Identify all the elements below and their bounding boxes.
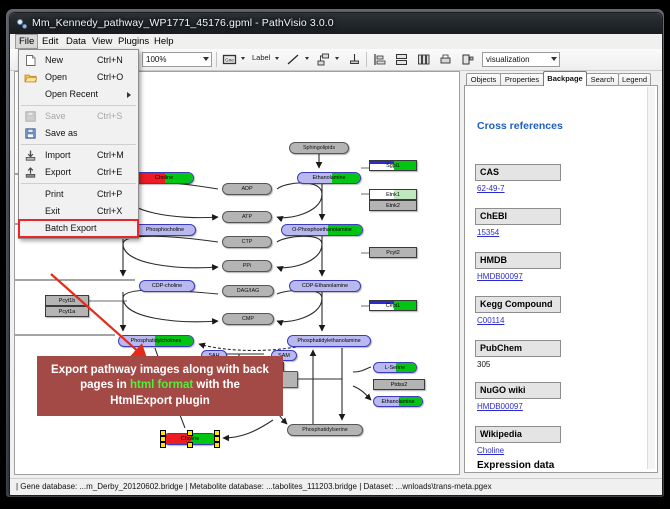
pathway-node-ctp[interactable]: CTP	[222, 236, 272, 248]
toolbar-separator	[216, 52, 217, 67]
selection-handle[interactable]	[160, 442, 166, 448]
pathvisio-main-window: Mm_Kennedy_pathway_WP1771_45176.gpml - P…	[9, 12, 663, 496]
pathway-gene-etnk1[interactable]: Etnk1	[369, 189, 417, 200]
file-menu-label: Save as	[45, 128, 78, 138]
menu-help[interactable]: Help	[150, 35, 178, 48]
menu-separator	[21, 183, 136, 184]
file-menu-item-new[interactable]: New Ctrl+N	[19, 52, 138, 69]
pathway-node-label: PPi	[243, 263, 251, 269]
pathway-node-ptdss2[interactable]: Ptdss2	[373, 379, 425, 390]
xref-header-kegg-compound: Kegg Compound	[475, 296, 561, 313]
file-menu-label: Import	[45, 150, 71, 160]
file-menu-label: Open Recent	[45, 89, 98, 99]
stack-icon[interactable]	[416, 52, 431, 67]
callout-line-1: Export pathway images along with back	[51, 363, 269, 379]
callout-line-3: HtmlExport plugin	[110, 394, 210, 410]
status-text: | Gene database: ...m_Derby_20120602.bri…	[16, 482, 492, 491]
chevron-down-icon[interactable]	[275, 57, 279, 60]
xref-value-hmdb[interactable]: HMDB00097	[477, 272, 523, 281]
pathway-node-label: CDP-Ethanolamine	[302, 283, 348, 289]
order-icon[interactable]	[460, 52, 475, 67]
chevron-down-icon	[551, 57, 557, 61]
chevron-down-icon[interactable]	[241, 57, 245, 60]
pathway-node-label: Phosphatidylserine	[302, 427, 348, 433]
file-menu-label: Export	[45, 167, 71, 177]
file-menu-accel: Ctrl+X	[97, 206, 122, 216]
open-folder-icon	[24, 71, 37, 84]
menu-plugins[interactable]: Plugins	[114, 35, 153, 48]
pathway-node-phosphocholine[interactable]: Phosphocholine	[134, 224, 196, 236]
pathway-node-o-phosphoethanolamine[interactable]: O-Phosphoethanolamine	[281, 224, 363, 236]
cross-references-heading: Cross references	[477, 120, 563, 132]
pathway-node-label: ADP	[241, 186, 252, 192]
pathway-node-label: Ptdss2	[391, 382, 407, 388]
pathway-node-label: Choline	[155, 175, 173, 181]
pathway-node-atp[interactable]: ATP	[222, 211, 272, 223]
pathway-node-label: CMP	[242, 316, 254, 322]
selection-handle[interactable]	[187, 442, 193, 448]
label-tool-label[interactable]: Label	[252, 53, 270, 62]
selection-handle[interactable]	[187, 430, 193, 436]
window-title: Mm_Kennedy_pathway_WP1771_45176.gpml - P…	[32, 17, 334, 29]
file-menu-label: Open	[45, 72, 67, 82]
pathway-gene-label: Etnk2	[386, 203, 400, 209]
pathway-node-adp[interactable]: ADP	[222, 183, 272, 195]
xref-header-wikipedia: Wikipedia	[475, 426, 561, 443]
xref-value-kegg-compound[interactable]: C00114	[477, 316, 504, 325]
pathway-node-label: O-Phosphoethanolamine	[292, 227, 352, 233]
file-menu-item-batch-export[interactable]: Batch Export	[19, 220, 138, 237]
menu-edit[interactable]: Edit	[38, 35, 62, 48]
xref-header-pubchem: PubChem	[475, 340, 561, 357]
xref-value-pubchem: 305	[477, 360, 490, 369]
xref-header-hmdb: HMDB	[475, 252, 561, 269]
pathway-node-ethanolamine-right[interactable]: Ethanolamine	[373, 396, 423, 407]
pathway-node-dag-iag[interactable]: DAG/IAG	[222, 285, 274, 297]
chevron-down-icon	[203, 57, 209, 61]
file-menu-item-save-as[interactable]: Save as	[19, 125, 138, 142]
import-icon	[24, 149, 37, 162]
pathway-gene-label: Pcyt2	[386, 250, 399, 256]
file-menu-label: Save	[45, 111, 66, 121]
file-menu-label: Batch Export	[45, 223, 97, 233]
pathway-gene-label: Etnk1	[386, 192, 400, 198]
chevron-down-icon[interactable]	[335, 57, 339, 60]
file-menu-popup[interactable]: New Ctrl+N Open Ctrl+O Open Recent	[18, 49, 139, 239]
tab-backpage[interactable]: Backpage	[543, 71, 587, 86]
file-menu-label: Exit	[45, 206, 60, 216]
pathway-node-ppi[interactable]: PPi	[222, 260, 272, 272]
menu-separator	[21, 144, 136, 145]
datanode-icon[interactable]: Gne	[222, 52, 237, 67]
pathway-node-sphingolipids[interactable]: Sphingolipids	[289, 142, 349, 154]
menu-file[interactable]: File	[15, 34, 38, 49]
menu-view[interactable]: View	[88, 35, 116, 48]
svg-text:Gne: Gne	[225, 58, 234, 63]
file-menu-accel: Ctrl+N	[97, 55, 123, 65]
backpage-panel: Cross references CAS 62-49-7 ChEBI 15354…	[464, 85, 658, 473]
pathway-node-label: DAG/IAG	[237, 288, 259, 294]
xref-value-chebi[interactable]: 15354	[477, 228, 499, 237]
pathway-node-cmp[interactable]: CMP	[222, 313, 274, 325]
print-icon[interactable]	[438, 52, 453, 67]
selection-handle[interactable]	[214, 442, 220, 448]
file-menu-item-open-recent[interactable]: Open Recent	[19, 86, 138, 103]
xref-value-wikipedia[interactable]: Choline	[477, 446, 504, 455]
side-panel-scrollbar[interactable]	[647, 87, 655, 469]
file-menu-item-open[interactable]: Open Ctrl+O	[19, 69, 138, 86]
pathway-node-label: CTP	[242, 239, 253, 245]
pathway-node-ethanolamine-top[interactable]: Ethanolamine	[297, 172, 361, 184]
pathway-node-l-serine[interactable]: L-Serine	[373, 362, 417, 373]
pathway-gene-pcyt2[interactable]: Pcyt2	[369, 247, 417, 258]
file-menu-accel: Ctrl+O	[97, 72, 123, 82]
pathvisio-app-icon	[16, 17, 28, 29]
file-menu-accel: Ctrl+S	[97, 111, 122, 121]
line-icon[interactable]	[286, 52, 301, 67]
menu-separator	[21, 105, 136, 106]
pathway-node-phosphatidylethanolamine[interactable]: Phosphatidylethanolamine	[287, 335, 371, 347]
pathway-anchor-rectangle[interactable]	[281, 371, 298, 388]
file-menu-item-print[interactable]: Print Ctrl+P	[19, 186, 138, 203]
xref-value-nugo-wiki[interactable]: HMDB00097	[477, 402, 523, 411]
zoom-value: 100%	[146, 55, 166, 64]
pathway-node-cdp-ethanolamine[interactable]: CDP-Ethanolamine	[289, 280, 361, 292]
pathway-gene-label: Sgpl1	[386, 163, 400, 169]
save-as-icon	[24, 127, 37, 140]
pathway-node-label: L-Serine	[385, 365, 405, 371]
xref-header-cas: CAS	[475, 164, 561, 181]
pathway-node-label: Phosphatidylethanolamine	[297, 338, 360, 344]
pathway-node-phosphatidylserine[interactable]: Phosphatidylserine	[287, 424, 363, 436]
file-menu-item-export[interactable]: Export Ctrl+E	[19, 164, 138, 181]
pathway-node-choline-top[interactable]: Choline	[134, 172, 194, 184]
anchor-icon[interactable]	[347, 52, 362, 67]
pathway-node-label: ATP	[242, 214, 252, 220]
file-menu-accel: Ctrl+M	[97, 150, 124, 160]
save-disk-icon	[24, 110, 37, 123]
side-panel: Objects Properties Backpage Search Legen…	[462, 71, 658, 473]
pathway-gene-sgpl1[interactable]: Sgpl1	[369, 160, 417, 171]
chevron-right-icon	[127, 92, 131, 98]
file-menu-label: New	[45, 55, 63, 65]
title-bar: Mm_Kennedy_pathway_WP1771_45176.gpml - P…	[10, 13, 662, 35]
file-menu-item-exit[interactable]: Exit Ctrl+X	[19, 203, 138, 220]
callout-arrow	[45, 268, 205, 363]
desktop-background: Mm_Kennedy_pathway_WP1771_45176.gpml - P…	[0, 0, 670, 509]
file-menu-item-save: Save Ctrl+S	[19, 108, 138, 125]
file-menu-accel: Ctrl+P	[97, 189, 122, 199]
file-menu-accel: Ctrl+E	[97, 167, 122, 177]
pathway-gene-label: Cept1	[386, 303, 400, 309]
status-bar: | Gene database: ...m_Derby_20120602.bri…	[10, 478, 662, 495]
side-panel-tabs: Objects Properties Backpage Search Legen…	[462, 71, 658, 85]
file-menu-label: Print	[45, 189, 64, 199]
xref-value-cas[interactable]: 62-49-7	[477, 184, 505, 193]
group-icon[interactable]	[394, 52, 409, 67]
new-document-icon	[24, 54, 37, 67]
align-icon[interactable]	[372, 52, 387, 67]
chevron-down-icon[interactable]	[305, 57, 309, 60]
file-menu-item-import[interactable]: Import Ctrl+M	[19, 147, 138, 164]
pathway-node-label: Ethanolamine	[382, 399, 415, 405]
pathway-gene-cept1[interactable]: Cept1	[369, 300, 417, 311]
menu-data[interactable]: Data	[62, 35, 90, 48]
menu-bar: File Edit Data View Plugins Help	[10, 34, 662, 50]
visualization-value: visualization	[486, 55, 530, 64]
pathway-node-label: Sphingolipids	[303, 145, 335, 151]
backpage-content: Cross references CAS 62-49-7 ChEBI 15354…	[465, 86, 657, 472]
annotation-callout: Export pathway images along with back pa…	[37, 356, 283, 416]
xref-header-nugo-wiki: NuGO wiki	[475, 382, 561, 399]
xref-header-chebi: ChEBI	[475, 208, 561, 225]
expression-data-heading: Expression data	[477, 460, 554, 471]
callout-line-2: pages in html format with the	[80, 378, 240, 394]
visualization-combobox[interactable]: visualization	[482, 52, 560, 67]
pathway-gene-etnk2[interactable]: Etnk2	[369, 200, 417, 211]
export-icon	[24, 166, 37, 179]
pathway-node-label: Phosphocholine	[146, 227, 184, 233]
pathway-node-label: Ethanolamine	[313, 175, 346, 181]
toolbar-separator	[366, 52, 367, 67]
zoom-combobox[interactable]: 100%	[142, 52, 212, 67]
interaction-icon[interactable]	[316, 52, 331, 67]
